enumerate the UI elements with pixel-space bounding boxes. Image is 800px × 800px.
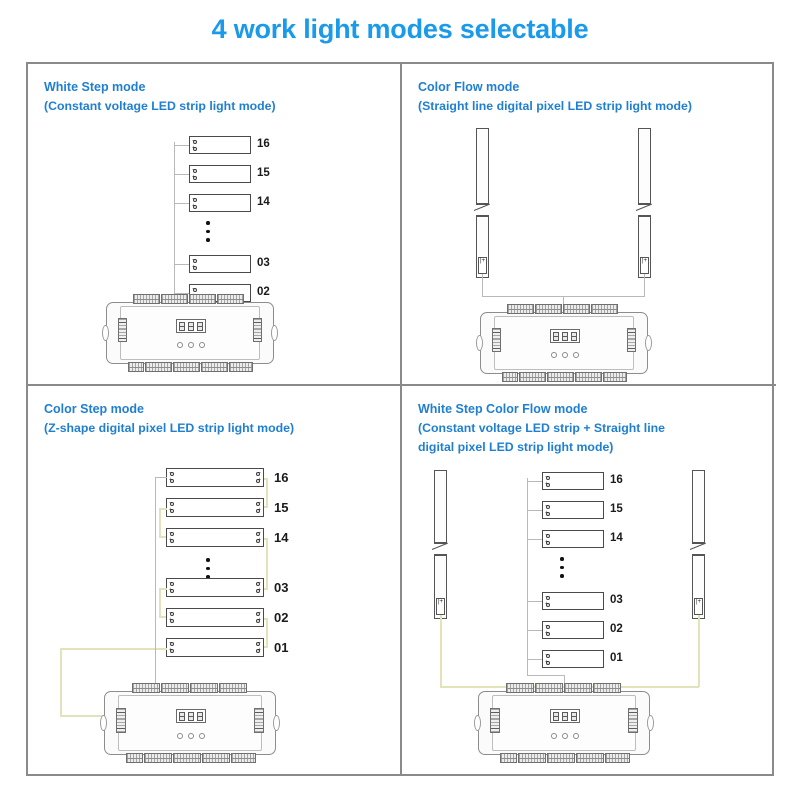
strip-break-right: [692, 543, 705, 555]
strip-number: 02: [274, 610, 288, 625]
terminal-block-top[interactable]: [219, 683, 247, 693]
led-strip-15: − + − +: [166, 498, 264, 517]
z-link-wire: [159, 508, 167, 510]
terminal-plus-right: +: [258, 507, 261, 513]
strip-number: 16: [274, 470, 288, 485]
terminal-sign: +: [482, 258, 486, 264]
display-digit: [197, 322, 203, 331]
terminal-block-top[interactable]: [190, 683, 218, 693]
strip-break-left: [434, 543, 447, 555]
strip-wire: [527, 601, 542, 602]
terminal-block-bottom[interactable]: [128, 362, 144, 372]
terminal-block-bottom[interactable]: [576, 753, 604, 763]
strip-number: 03: [610, 594, 623, 606]
terminal-block-bottom[interactable]: [575, 372, 602, 382]
strip-number: 01: [274, 640, 288, 655]
terminal-plus: +: [545, 539, 548, 545]
diagram-root: 4 work light modes selectable White Step…: [0, 0, 800, 800]
terminal-plus: +: [192, 145, 195, 151]
terminal-plus: +: [169, 647, 172, 653]
strip-number: 14: [274, 530, 288, 545]
pixel-strip-right-upper: [692, 470, 705, 543]
led-controller[interactable]: [480, 312, 648, 374]
control-button[interactable]: [551, 352, 557, 358]
terminal-minus: −: [169, 610, 172, 616]
terminal-block-top[interactable]: [535, 304, 562, 314]
strip-wire: [527, 630, 542, 631]
terminal-sign: +: [698, 599, 702, 605]
terminal-plus: +: [545, 601, 548, 607]
terminal-block-bottom[interactable]: [144, 753, 172, 763]
control-button[interactable]: [562, 733, 568, 739]
control-button[interactable]: [199, 733, 205, 739]
strip-number: 01: [610, 652, 623, 664]
terminal-plus: +: [545, 481, 548, 487]
z-link-wire: [266, 478, 268, 507]
strip-number: 15: [257, 167, 270, 179]
terminal-minus: −: [169, 500, 172, 506]
terminal-minus: −: [192, 138, 195, 144]
control-button[interactable]: [562, 352, 568, 358]
control-button[interactable]: [573, 733, 579, 739]
data-bus-wire: [155, 477, 156, 692]
display-digit: [188, 322, 194, 331]
quadrant-white-step: White Step mode (Constant voltage LED st…: [28, 64, 402, 386]
digit-display: [176, 709, 206, 723]
terminal-block-bottom[interactable]: [518, 753, 546, 763]
z-link-wire: [264, 588, 268, 590]
terminal-minus-right: −: [258, 640, 261, 646]
display-digit: [571, 332, 577, 341]
strip-number: 15: [274, 500, 288, 515]
strip-wire: [527, 510, 542, 511]
terminal-plus-right: +: [258, 647, 261, 653]
z-link-wire: [264, 538, 268, 540]
bus-wire-turn: [527, 675, 565, 676]
led-strip-14: − +: [542, 530, 604, 548]
terminal-minus: −: [545, 623, 548, 629]
terminal-block-top[interactable]: [563, 304, 590, 314]
color-step-artwork: − + − + 16 − +: [28, 386, 400, 776]
terminal-block-bottom[interactable]: [547, 753, 575, 763]
terminal-block-bottom[interactable]: [519, 372, 546, 382]
z-link-wire: [264, 506, 268, 508]
terminal-plus: +: [169, 507, 172, 513]
terminal-sign: +: [644, 258, 648, 264]
mount-ear-right: [273, 715, 280, 731]
side-connector-left[interactable]: [492, 328, 501, 352]
side-connector-right[interactable]: [253, 318, 262, 342]
digit-display: [550, 329, 580, 343]
display-digit: [197, 712, 203, 721]
terminal-plus: +: [192, 203, 195, 209]
led-controller[interactable]: [478, 691, 650, 755]
terminal-plus: +: [192, 264, 195, 270]
terminal-block-bottom[interactable]: [201, 362, 228, 372]
terminal-plus: +: [192, 174, 195, 180]
side-connector-right[interactable]: [628, 708, 638, 733]
terminal-block-bottom[interactable]: [603, 372, 627, 382]
led-controller[interactable]: [106, 302, 274, 364]
bus-wire-vertical: [527, 478, 528, 642]
display-digit: [179, 322, 185, 331]
terminal-minus-right: −: [258, 500, 261, 506]
side-connector-left[interactable]: [118, 318, 127, 342]
led-strip-01: − + − +: [166, 638, 264, 657]
strip-wire: [527, 659, 542, 660]
bus-wire: [174, 142, 175, 294]
display-digit: [571, 712, 577, 721]
terminal-plus: +: [545, 510, 548, 516]
terminal-block-top[interactable]: [161, 294, 188, 304]
side-connector-left[interactable]: [490, 708, 500, 733]
terminal-block-bottom[interactable]: [126, 753, 143, 763]
pixel-strip-left-upper: [434, 470, 447, 543]
mount-ear-left: [102, 325, 109, 341]
terminal-block-top[interactable]: [591, 304, 618, 314]
terminal-plus: +: [545, 630, 548, 636]
strip-wire: [174, 145, 189, 146]
terminal-plus: +: [545, 659, 548, 665]
terminal-minus-right: −: [258, 610, 261, 616]
page-title: 4 work light modes selectable: [0, 14, 800, 45]
strip-number: 16: [257, 138, 270, 150]
z-link-wire: [159, 588, 161, 617]
quadrant-color-flow: Color Flow mode (Straight line digital p…: [402, 64, 776, 386]
z-link-wire: [264, 478, 268, 480]
control-button[interactable]: [177, 733, 183, 739]
strip-wire: [527, 481, 542, 482]
terminal-block-bottom[interactable]: [202, 753, 230, 763]
feed-wire-horizontal: [60, 648, 167, 650]
strip-break-right: [638, 204, 651, 216]
terminal-minus-right: −: [258, 580, 261, 586]
terminal-minus: −: [169, 640, 172, 646]
terminal-plus-right: +: [258, 537, 261, 543]
terminal-minus: −: [192, 286, 195, 292]
pixel-strip-left-upper: [476, 128, 489, 204]
terminal-plus: +: [169, 537, 172, 543]
led-strip-01: − +: [542, 650, 604, 668]
control-button[interactable]: [199, 342, 205, 348]
terminal-plus: +: [169, 587, 172, 593]
terminal-plus: +: [169, 617, 172, 623]
strip-number: 16: [610, 474, 623, 486]
terminal-block-bottom[interactable]: [229, 362, 253, 372]
terminal-minus: −: [545, 594, 548, 600]
control-button[interactable]: [177, 342, 183, 348]
side-connector-left[interactable]: [116, 708, 126, 733]
strip-ellipsis: [206, 221, 210, 247]
terminal-plus-right: +: [258, 587, 261, 593]
led-strip-16: − +: [189, 136, 251, 154]
z-link-wire: [159, 508, 161, 537]
strip-ellipsis: [560, 557, 564, 583]
color-flow-artwork: |+ |+: [402, 64, 776, 384]
terminal-minus-right: −: [258, 470, 261, 476]
strip-wire: [527, 539, 542, 540]
digit-display: [176, 319, 206, 333]
terminal-block-top[interactable]: [189, 294, 216, 304]
controller-panel: [492, 695, 636, 751]
control-button[interactable]: [573, 352, 579, 358]
quadrant-frame: White Step mode (Constant voltage LED st…: [26, 62, 774, 776]
strip-number: 15: [610, 503, 623, 515]
led-strip-03: − +: [189, 255, 251, 273]
data-bus-tap: [155, 477, 167, 478]
terminal-block-top[interactable]: [161, 683, 189, 693]
led-strip-03: − +: [542, 592, 604, 610]
quadrant-color-step: Color Step mode (Z-shape digital pixel L…: [28, 386, 402, 776]
white-step-color-flow-artwork: |+ |+ − + 16: [402, 386, 776, 776]
terminal-minus: −: [545, 474, 548, 480]
terminal-block-bottom[interactable]: [500, 753, 517, 763]
terminal-minus: −: [169, 580, 172, 586]
terminal-block-top[interactable]: [593, 683, 621, 693]
control-button[interactable]: [551, 733, 557, 739]
controller-panel: [118, 695, 262, 751]
terminal-minus: −: [169, 470, 172, 476]
terminal-block-bottom[interactable]: [605, 753, 630, 763]
mount-ear-left: [476, 335, 483, 351]
z-link-wire-continued: [266, 538, 268, 588]
terminal-minus: −: [169, 530, 172, 536]
display-digit: [553, 712, 559, 721]
control-button[interactable]: [188, 733, 194, 739]
terminal-block-top[interactable]: [507, 304, 534, 314]
strip-wire-right: [644, 274, 645, 296]
display-digit: [188, 712, 194, 721]
led-strip-16: − + − +: [166, 468, 264, 487]
strip-number: 03: [274, 580, 288, 595]
terminal-block-top[interactable]: [564, 683, 592, 693]
terminal-block-top[interactable]: [535, 683, 563, 693]
led-strip-02: − + − +: [166, 608, 264, 627]
terminal-block-bottom[interactable]: [173, 753, 201, 763]
terminal-minus: −: [192, 196, 195, 202]
terminal-block-bottom[interactable]: [231, 753, 256, 763]
terminal-sign: +: [440, 599, 444, 605]
strip-number: 14: [610, 532, 623, 544]
mount-ear-left: [100, 715, 107, 731]
feed-wire-vertical: [60, 648, 62, 716]
strip-terminal-right: |+: [694, 598, 703, 615]
led-strip-03: − + − +: [166, 578, 264, 597]
led-controller[interactable]: [104, 691, 276, 755]
terminal-plus-right: +: [258, 617, 261, 623]
display-digit: [562, 712, 568, 721]
terminal-minus: −: [545, 503, 548, 509]
display-digit: [562, 332, 568, 341]
strip-wire-left: [482, 274, 483, 296]
pixel-strip-right-upper: [638, 128, 651, 204]
strip-terminal-left: |+: [478, 257, 487, 274]
terminal-plus: +: [169, 477, 172, 483]
terminal-minus: −: [192, 167, 195, 173]
terminal-block-top[interactable]: [133, 294, 160, 304]
side-connector-right[interactable]: [627, 328, 636, 352]
led-strip-16: − +: [542, 472, 604, 490]
terminal-minus: −: [545, 532, 548, 538]
terminal-plus-right: +: [258, 477, 261, 483]
display-digit: [553, 332, 559, 341]
mount-ear-left: [474, 715, 481, 731]
terminal-block-bottom[interactable]: [547, 372, 574, 382]
strip-number: 14: [257, 196, 270, 208]
strip-break-left: [476, 204, 489, 216]
power-wire-right: [698, 615, 700, 687]
terminal-block-bottom[interactable]: [502, 372, 518, 382]
quadrant-white-step-color-flow: White Step Color Flow mode (Constant vol…: [402, 386, 776, 776]
terminal-minus: −: [192, 257, 195, 263]
strip-terminal-left: |+: [436, 598, 445, 615]
power-wire-left: [440, 615, 442, 687]
mount-ear-right: [645, 335, 652, 351]
led-strip-14: − +: [189, 194, 251, 212]
controller-panel: [120, 306, 260, 360]
side-connector-right[interactable]: [254, 708, 264, 733]
led-strip-02: − +: [542, 621, 604, 639]
z-link-wire: [159, 588, 167, 590]
strip-terminal-right: |+: [640, 257, 649, 274]
z-link-wire: [264, 618, 268, 620]
led-strip-15: − +: [189, 165, 251, 183]
terminal-block-top[interactable]: [132, 683, 160, 693]
mount-ear-right: [647, 715, 654, 731]
strip-number: 02: [257, 286, 270, 298]
mount-ear-right: [271, 325, 278, 341]
led-strip-15: − +: [542, 501, 604, 519]
strip-wire: [174, 203, 189, 204]
display-digit: [179, 712, 185, 721]
control-button[interactable]: [188, 342, 194, 348]
terminal-minus: −: [545, 652, 548, 658]
led-strip-14: − + − +: [166, 528, 264, 547]
strip-wire: [174, 264, 189, 265]
terminal-block-bottom[interactable]: [173, 362, 200, 372]
z-link-wire: [264, 646, 268, 648]
white-step-artwork: − + 16 − + 15 −: [28, 64, 400, 384]
terminal-minus-right: −: [258, 530, 261, 536]
terminal-block-top[interactable]: [217, 294, 244, 304]
strip-wire: [174, 174, 189, 175]
terminal-block-bottom[interactable]: [145, 362, 172, 372]
digit-display: [550, 709, 580, 723]
strip-number: 03: [257, 257, 270, 269]
bus-wire-to-controller: [527, 642, 528, 676]
terminal-block-top[interactable]: [506, 683, 534, 693]
controller-panel: [494, 316, 634, 370]
strip-number: 02: [610, 623, 623, 635]
z-link-wire: [266, 618, 268, 647]
